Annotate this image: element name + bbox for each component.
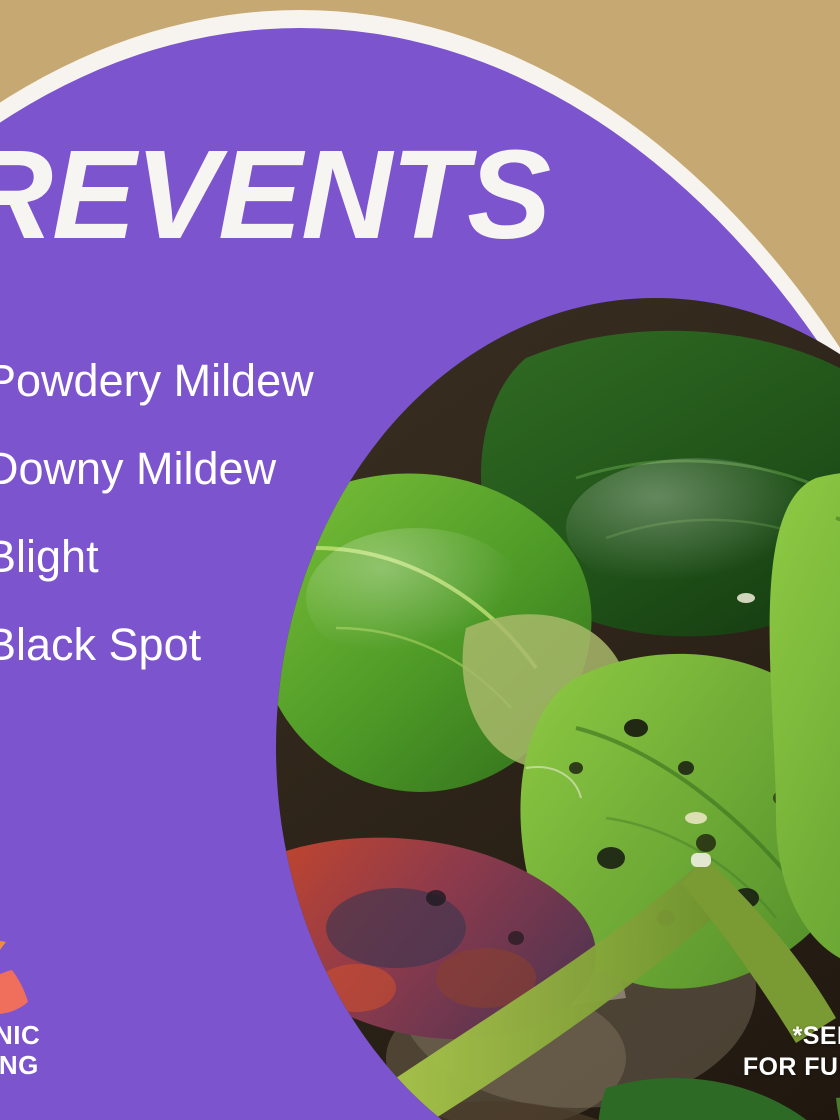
footnote-line-1: *SEE <box>743 1021 840 1052</box>
footnote-line-2: FOR FUL <box>743 1052 840 1083</box>
brand-logo: GANIC ENING <box>0 930 134 1100</box>
logo-line-1: GANIC <box>0 1020 144 1050</box>
poster-canvas: REVENTS Powdery Mildew Downy Mildew Blig… <box>0 0 840 1120</box>
logo-wordmark: GANIC ENING <box>0 1020 144 1081</box>
logo-line-2: ENING <box>0 1050 144 1080</box>
footnote-disclaimer: *SEE FOR FUL <box>743 1021 840 1082</box>
page-title: REVENTS <box>0 132 840 258</box>
flower-petals-icon <box>0 930 64 1020</box>
leaf-photo-illustration <box>276 298 840 1120</box>
diseased-leaf-photo <box>276 298 840 1120</box>
